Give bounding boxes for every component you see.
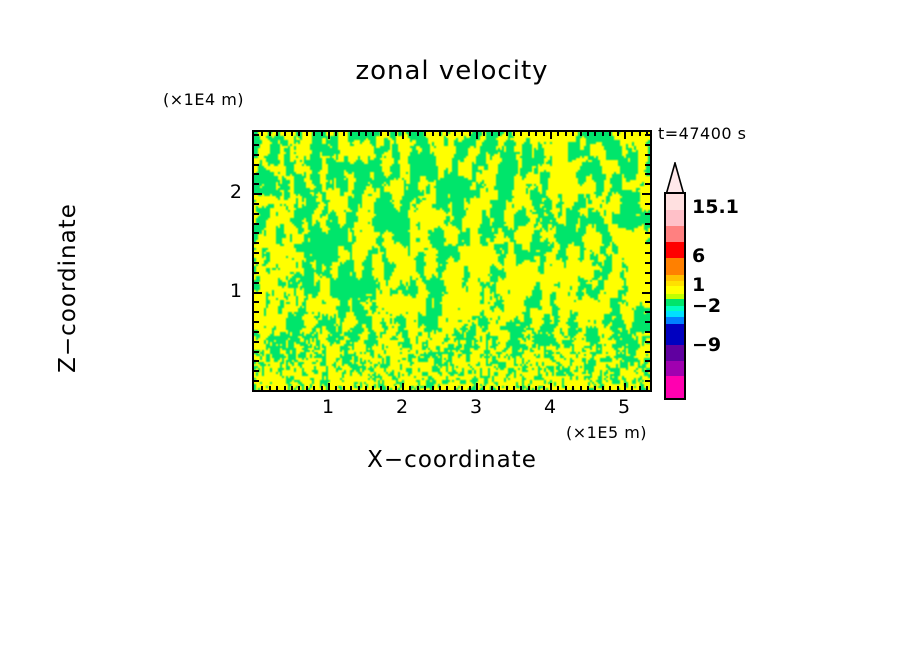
x-tick-top	[639, 132, 641, 136]
x-tick-top	[498, 132, 500, 136]
x-tick-top	[476, 132, 478, 139]
x-tick-bottom	[557, 386, 559, 390]
x-tick-top	[506, 132, 508, 136]
y-tick-left	[254, 360, 259, 362]
y-tick-left	[254, 144, 259, 146]
x-tick-label: 3	[461, 396, 491, 418]
y-tick-right	[645, 341, 650, 343]
x-tick-label: 4	[535, 396, 565, 418]
colorbar-bands	[664, 192, 686, 400]
x-tick-bottom	[594, 386, 596, 390]
y-tick-right	[645, 380, 650, 382]
x-tick-top	[365, 132, 367, 136]
x-tick-top	[535, 132, 537, 136]
x-tick-bottom	[402, 383, 404, 390]
x-tick-top	[313, 132, 315, 136]
y-tick-left	[254, 154, 259, 156]
x-tick-top	[298, 132, 300, 136]
x-axis-title: X−coordinate	[282, 447, 622, 473]
y-tick-left	[254, 341, 259, 343]
x-tick-bottom	[276, 386, 278, 390]
x-tick-bottom	[469, 386, 471, 390]
x-tick-bottom	[587, 386, 589, 390]
y-tick-left	[254, 213, 259, 215]
x-tick-bottom	[498, 386, 500, 390]
x-tick-top	[602, 132, 604, 136]
x-tick-bottom	[387, 386, 389, 390]
x-tick-top	[439, 132, 441, 136]
x-tick-top	[358, 132, 360, 136]
x-tick-top	[269, 132, 271, 136]
x-tick-top	[557, 132, 559, 136]
x-tick-top	[446, 132, 448, 136]
y-tick-right	[645, 164, 650, 166]
x-tick-bottom	[639, 386, 641, 390]
x-tick-bottom	[439, 386, 441, 390]
x-tick-top	[343, 132, 345, 136]
y-tick-left	[254, 292, 262, 294]
y-tick-left	[254, 331, 259, 333]
x-tick-top	[291, 132, 293, 136]
y-tick-right	[645, 360, 650, 362]
colorbar-band	[666, 258, 684, 276]
y-tick-left	[254, 193, 262, 195]
colorbar: 15.161−2−9	[664, 162, 686, 400]
x-tick-bottom	[306, 386, 308, 390]
x-tick-top	[550, 132, 552, 139]
x-tick-top	[491, 132, 493, 136]
y-tick-right	[642, 193, 650, 195]
x-tick-bottom	[395, 386, 397, 390]
x-tick-bottom	[565, 386, 567, 390]
colorbar-tick-label: −9	[692, 334, 721, 356]
y-tick-right	[645, 262, 650, 264]
y-tick-left	[254, 203, 259, 205]
x-tick-top	[402, 132, 404, 139]
x-tick-bottom	[321, 386, 323, 390]
x-tick-bottom	[291, 386, 293, 390]
colorbar-band	[666, 361, 684, 375]
y-tick-left	[254, 370, 259, 372]
y-tick-label: 1	[212, 280, 242, 302]
x-tick-bottom	[580, 386, 582, 390]
x-tick-top	[306, 132, 308, 136]
y-tick-right	[645, 252, 650, 254]
x-tick-bottom	[461, 386, 463, 390]
y-tick-label: 2	[212, 181, 242, 203]
x-tick-bottom	[269, 386, 271, 390]
x-tick-top	[432, 132, 434, 136]
x-tick-top	[461, 132, 463, 136]
x-tick-top	[409, 132, 411, 136]
colorbar-band	[666, 299, 684, 306]
x-tick-top	[284, 132, 286, 136]
x-axis-unit-label: (×1E5 m)	[566, 423, 647, 442]
y-axis-title: Z−coordinate	[55, 158, 81, 418]
y-tick-left	[254, 282, 259, 284]
x-tick-top	[520, 132, 522, 136]
y-tick-right	[645, 232, 650, 234]
y-axis-unit-label: (×1E4 m)	[163, 90, 244, 109]
y-tick-right	[645, 173, 650, 175]
x-tick-bottom	[313, 386, 315, 390]
x-tick-top	[572, 132, 574, 136]
x-tick-label: 2	[387, 396, 417, 418]
x-tick-top	[276, 132, 278, 136]
y-tick-right	[645, 282, 650, 284]
chart-title: zonal velocity	[0, 56, 904, 86]
y-tick-left	[254, 252, 259, 254]
x-tick-bottom	[609, 386, 611, 390]
x-tick-bottom	[483, 386, 485, 390]
x-tick-top	[528, 132, 530, 136]
x-tick-top	[543, 132, 545, 136]
colorbar-tick-label: 6	[692, 245, 705, 267]
y-tick-right	[645, 331, 650, 333]
colorbar-tick-label: 1	[692, 274, 705, 296]
heatmap-plot-area	[252, 130, 652, 392]
x-tick-top	[617, 132, 619, 136]
y-tick-right	[645, 321, 650, 323]
x-tick-bottom	[372, 386, 374, 390]
colorbar-band	[666, 345, 684, 362]
x-tick-bottom	[328, 383, 330, 390]
colorbar-band	[666, 376, 684, 398]
y-tick-left	[254, 183, 259, 185]
x-tick-bottom	[298, 386, 300, 390]
y-tick-right	[645, 154, 650, 156]
x-tick-bottom	[617, 386, 619, 390]
y-tick-left	[254, 164, 259, 166]
y-tick-left	[254, 301, 259, 303]
x-tick-top	[387, 132, 389, 136]
x-tick-top	[328, 132, 330, 139]
y-tick-right	[645, 301, 650, 303]
x-tick-bottom	[350, 386, 352, 390]
colorbar-tick-label: 15.1	[692, 196, 739, 218]
x-tick-top	[424, 132, 426, 136]
x-tick-bottom	[358, 386, 360, 390]
x-tick-bottom	[646, 386, 648, 390]
y-tick-left	[254, 321, 259, 323]
x-tick-bottom	[572, 386, 574, 390]
y-tick-left	[254, 223, 259, 225]
x-tick-top	[631, 132, 633, 136]
x-tick-top	[587, 132, 589, 136]
x-tick-top	[483, 132, 485, 136]
x-tick-bottom	[454, 386, 456, 390]
x-tick-bottom	[506, 386, 508, 390]
y-tick-right	[642, 292, 650, 294]
x-tick-top	[594, 132, 596, 136]
y-tick-left	[254, 173, 259, 175]
time-annotation: t=47400 s	[658, 124, 747, 143]
x-tick-bottom	[624, 383, 626, 390]
y-tick-left	[254, 134, 259, 136]
colorbar-tick-label: −2	[692, 295, 721, 317]
y-tick-right	[645, 134, 650, 136]
colorbar-band	[666, 324, 684, 345]
y-tick-right	[645, 203, 650, 205]
x-tick-bottom	[284, 386, 286, 390]
x-tick-bottom	[528, 386, 530, 390]
x-tick-bottom	[365, 386, 367, 390]
x-tick-bottom	[343, 386, 345, 390]
x-tick-bottom	[491, 386, 493, 390]
x-tick-top	[417, 132, 419, 136]
colorbar-band	[666, 317, 684, 324]
x-tick-bottom	[380, 386, 382, 390]
x-tick-bottom	[631, 386, 633, 390]
y-tick-right	[645, 311, 650, 313]
y-tick-right	[645, 370, 650, 372]
x-tick-label: 1	[313, 396, 343, 418]
x-tick-top	[513, 132, 515, 136]
x-tick-bottom	[446, 386, 448, 390]
x-tick-top	[469, 132, 471, 136]
x-tick-top	[372, 132, 374, 136]
x-tick-top	[380, 132, 382, 136]
velocity-field-image	[254, 132, 650, 390]
x-tick-bottom	[543, 386, 545, 390]
colorbar-band	[666, 286, 684, 293]
y-tick-left	[254, 351, 259, 353]
y-tick-left	[254, 380, 259, 382]
x-tick-bottom	[424, 386, 426, 390]
y-tick-right	[645, 213, 650, 215]
x-tick-top	[395, 132, 397, 136]
y-tick-left	[254, 272, 259, 274]
x-tick-bottom	[520, 386, 522, 390]
y-tick-right	[645, 183, 650, 185]
colorbar-band	[666, 210, 684, 226]
x-tick-top	[624, 132, 626, 139]
x-tick-bottom	[550, 383, 552, 390]
y-tick-left	[254, 242, 259, 244]
y-tick-left	[254, 311, 259, 313]
x-tick-bottom	[335, 386, 337, 390]
x-tick-top	[565, 132, 567, 136]
y-tick-right	[645, 144, 650, 146]
y-tick-right	[645, 272, 650, 274]
x-tick-top	[261, 132, 263, 136]
x-tick-top	[454, 132, 456, 136]
x-tick-top	[609, 132, 611, 136]
y-tick-right	[645, 223, 650, 225]
x-tick-bottom	[535, 386, 537, 390]
colorbar-band	[666, 242, 684, 258]
colorbar-arrow-icon	[664, 162, 686, 196]
x-tick-bottom	[432, 386, 434, 390]
x-tick-top	[321, 132, 323, 136]
x-tick-top	[350, 132, 352, 136]
x-tick-label: 5	[609, 396, 639, 418]
y-tick-right	[645, 242, 650, 244]
x-tick-top	[335, 132, 337, 136]
x-tick-bottom	[409, 386, 411, 390]
x-tick-bottom	[602, 386, 604, 390]
x-tick-top	[580, 132, 582, 136]
x-tick-bottom	[476, 383, 478, 390]
x-tick-bottom	[513, 386, 515, 390]
y-tick-left	[254, 262, 259, 264]
x-tick-bottom	[417, 386, 419, 390]
y-tick-right	[645, 351, 650, 353]
colorbar-band	[666, 226, 684, 242]
x-tick-bottom	[261, 386, 263, 390]
y-tick-left	[254, 232, 259, 234]
colorbar-band	[666, 194, 684, 210]
